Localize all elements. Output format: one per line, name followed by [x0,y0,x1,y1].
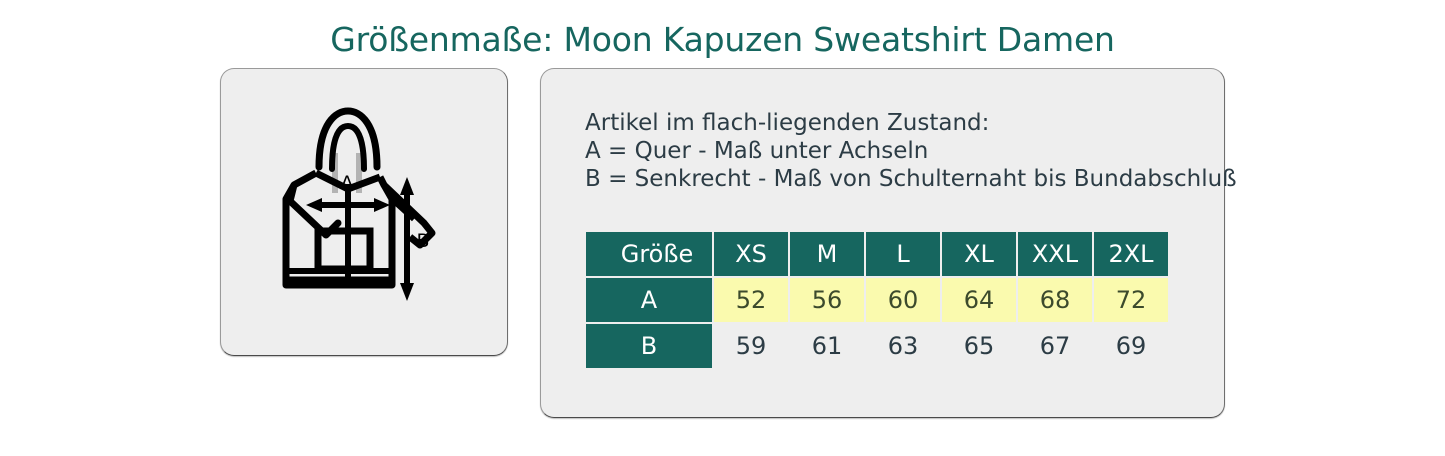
cell-b-xxl: 67 [1018,324,1092,368]
instruction-line-1: Artikel im flach-liegenden Zustand: [585,109,1237,137]
cell-b-xs: 59 [714,324,788,368]
page-title: Größenmaße: Moon Kapuzen Sweatshirt Dame… [0,20,1445,59]
cell-b-l: 63 [866,324,940,368]
cell-b-m: 61 [790,324,864,368]
measure-a-label: A [341,172,354,194]
cell-a-xs: 52 [714,278,788,322]
info-panel: Artikel im flach-liegenden Zustand: A = … [540,68,1225,418]
header-size-2xl: 2XL [1094,232,1168,276]
cell-a-xl: 64 [942,278,1016,322]
cell-b-2xl: 69 [1094,324,1168,368]
header-size-xs: XS [714,232,788,276]
cell-a-l: 60 [866,278,940,322]
instruction-line-3: B = Senkrecht - Maß von Schulternaht bis… [585,165,1237,193]
row-label-a: A [586,278,712,322]
table-header-row: Größe XS M L XL XXL 2XL [586,232,1168,276]
header-size-xl: XL [942,232,1016,276]
cell-a-xxl: 68 [1018,278,1092,322]
measure-b-label: B [416,230,429,252]
cell-b-xl: 65 [942,324,1016,368]
row-label-b: B [586,324,712,368]
header-size-xxl: XXL [1018,232,1092,276]
instruction-line-2: A = Quer - Maß unter Achseln [585,137,1237,165]
table-row-b: B 59 61 63 65 67 69 [586,324,1168,368]
cell-a-m: 56 [790,278,864,322]
size-table: Größe XS M L XL XXL 2XL A 52 56 60 64 68… [584,230,1170,370]
table-row-a: A 52 56 60 64 68 72 [586,278,1168,322]
hoodie-diagram-icon: A B [264,107,464,317]
measurement-instructions: Artikel im flach-liegenden Zustand: A = … [585,109,1237,193]
figure-panel: A B [220,68,508,356]
header-size-l: L [866,232,940,276]
header-groesse: Größe [586,232,712,276]
cell-a-2xl: 72 [1094,278,1168,322]
header-size-m: M [790,232,864,276]
